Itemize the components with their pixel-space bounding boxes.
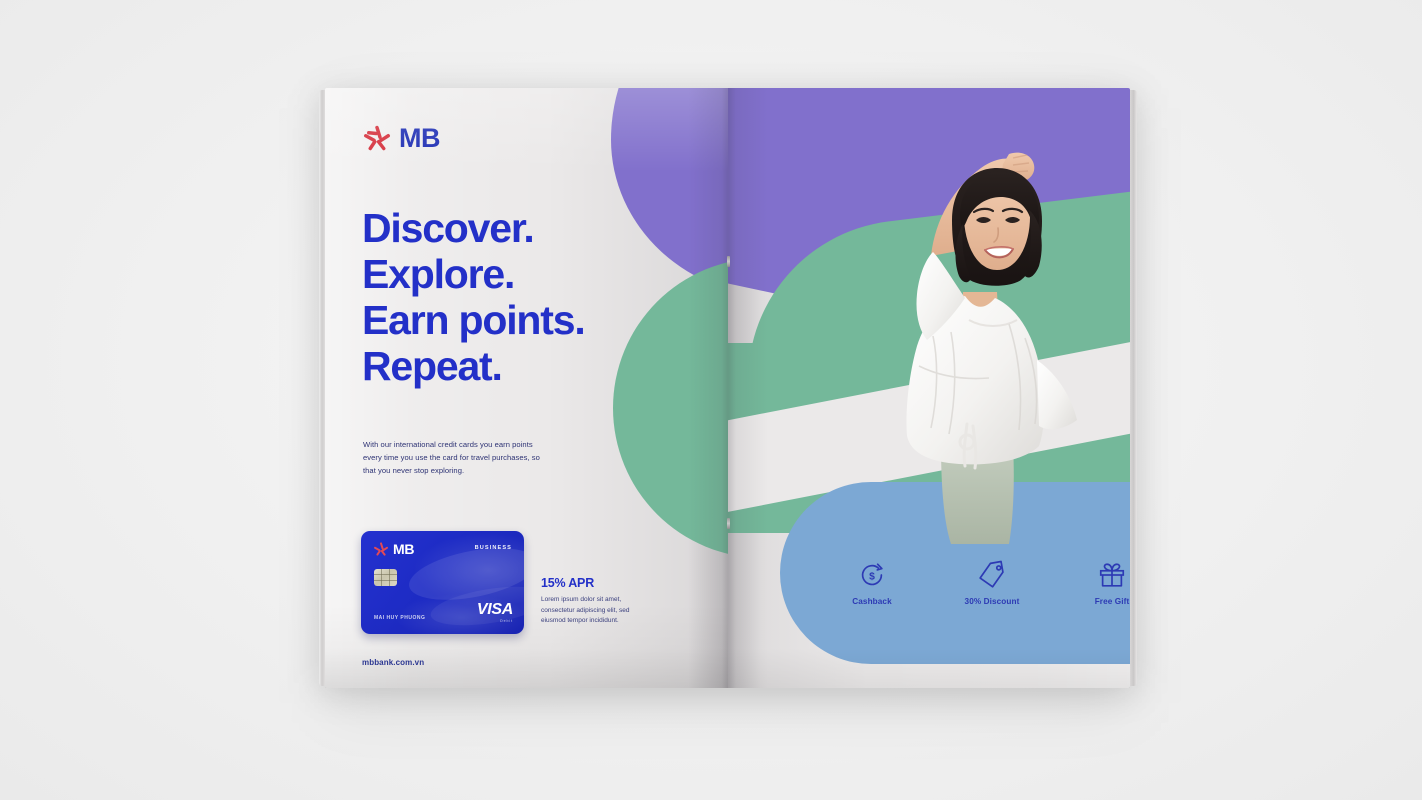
offer-title: 15% APR xyxy=(541,576,653,590)
credit-card: MB BUSINESS MAI HUY PHUONG VISA Debit xyxy=(361,531,524,634)
headline-line-3: Earn points. xyxy=(362,298,662,344)
benefit-discount[interactable]: 30% Discount xyxy=(953,560,1031,606)
card-holder-name: MAI HUY PHUONG xyxy=(374,615,425,621)
brand-logo: MB xyxy=(362,123,440,153)
body-copy: With our international credit cards you … xyxy=(363,438,548,477)
page-title: Discover. Explore. Earn points. Repeat. xyxy=(362,206,662,390)
mockup-canvas: MB Discover. Explore. Earn points. Repea… xyxy=(0,0,1422,800)
headline-line-1: Discover. xyxy=(362,206,662,252)
page-edge-right xyxy=(1130,90,1137,686)
offer-block: 15% APR Lorem ipsum dolor sit amet, cons… xyxy=(541,576,653,627)
offer-copy: Lorem ipsum dolor sit amet, consectetur … xyxy=(541,595,653,627)
benefit-gift[interactable]: Free Gift xyxy=(1073,560,1130,606)
gift-box-icon xyxy=(1097,560,1127,590)
card-network-sub: Debit xyxy=(477,619,513,623)
card-brand-logo: MB xyxy=(373,541,414,557)
card-tier: BUSINESS xyxy=(475,545,512,551)
page-right: $ Cashback 30% Discount xyxy=(728,88,1130,688)
brand-logo-text: MB xyxy=(399,125,440,152)
headline-line-4: Repeat. xyxy=(362,344,662,390)
page-left: MB Discover. Explore. Earn points. Repea… xyxy=(325,88,728,688)
model-photo xyxy=(813,124,1103,544)
cashback-icon: $ xyxy=(857,560,887,590)
svg-text:$: $ xyxy=(869,572,875,583)
discount-tag-icon xyxy=(977,560,1007,590)
benefit-label: 30% Discount xyxy=(953,597,1031,606)
magazine-spread: MB Discover. Explore. Earn points. Repea… xyxy=(325,88,1130,688)
card-brand-name: MB xyxy=(393,542,414,556)
benefit-label: Cashback xyxy=(833,597,911,606)
spine-staple-bottom xyxy=(727,518,730,529)
benefit-label: Free Gift xyxy=(1073,597,1130,606)
mb-star-icon-card xyxy=(373,541,389,557)
card-network: VISA Debit xyxy=(477,602,513,623)
benefits-row: $ Cashback 30% Discount xyxy=(833,560,1130,606)
website-url[interactable]: mbbank.com.vn xyxy=(362,658,424,667)
emv-chip-icon xyxy=(374,569,397,586)
spine-staple-top xyxy=(727,256,730,267)
headline-line-2: Explore. xyxy=(362,252,662,298)
mb-star-icon xyxy=(362,123,392,153)
benefit-cashback[interactable]: $ Cashback xyxy=(833,560,911,606)
card-network-name: VISA xyxy=(477,602,513,618)
